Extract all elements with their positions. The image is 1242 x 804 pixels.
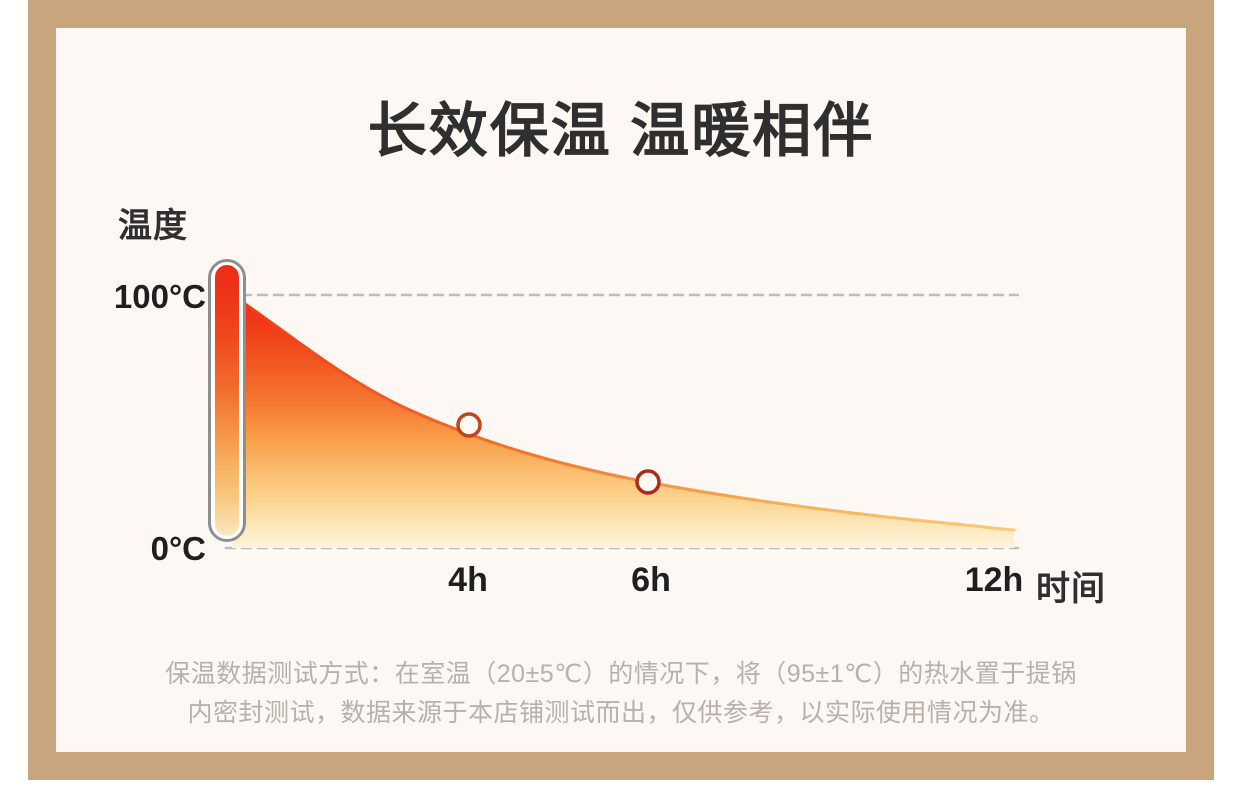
temperature-retention-chart: 温度 时间 100°C 0°C 4h 6h 12h <box>56 180 1186 610</box>
poster-root: 长效保温 温暖相伴 温度 时间 100°C 0°C 4h 6h 12h <box>0 0 1242 804</box>
thermometer-gauge <box>208 259 246 542</box>
data-point-marker-4h[interactable] <box>458 414 480 436</box>
footnote-line-1: 保温数据测试方式：在室温（20±5℃）的情况下，将（95±1℃）的热水置于提锅 <box>86 655 1156 694</box>
page-title: 长效保温 温暖相伴 <box>56 98 1186 166</box>
thermometer-fill <box>215 265 239 536</box>
footnote-disclaimer: 保温数据测试方式：在室温（20±5℃）的情况下，将（95±1℃）的热水置于提锅 … <box>86 655 1156 733</box>
temperature-area-fill <box>232 295 1014 548</box>
data-point-marker-6h[interactable] <box>637 471 659 493</box>
footnote-line-2: 内密封测试，数据来源于本店铺测试而出，仅供参考，以实际使用情况为准。 <box>86 694 1156 733</box>
